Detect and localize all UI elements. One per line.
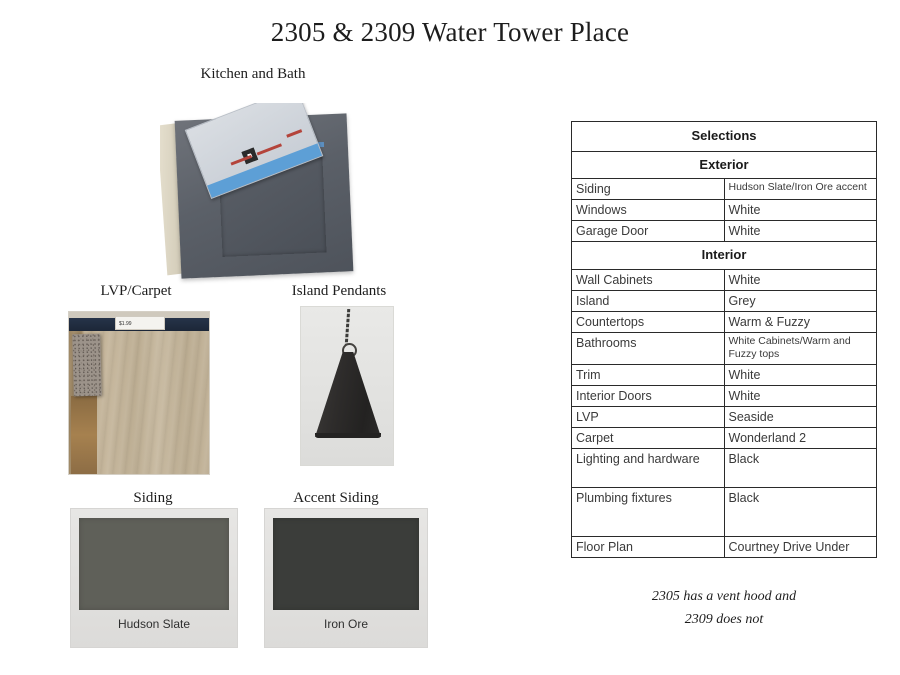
table-cell-label: Bathrooms	[572, 332, 725, 364]
page-title: 2305 & 2309 Water Tower Place	[0, 17, 900, 48]
swatch-card-hudson-slate: Hudson Slate	[70, 508, 238, 648]
table-cell-label: Plumbing fixtures	[572, 487, 725, 536]
table-cell-label: Wall Cabinets	[572, 269, 725, 290]
table-cell-value: White	[724, 364, 877, 385]
table-cell-label: Lighting and hardware	[572, 448, 725, 487]
table-section-header-cell: Exterior	[572, 151, 877, 179]
table-cell-label: Carpet	[572, 427, 725, 448]
table-cell-value: Wonderland 2	[724, 427, 877, 448]
table-cell-value: White	[724, 221, 877, 242]
table-cell-value: White	[724, 385, 877, 406]
carpet-sample	[72, 334, 102, 397]
table-cell-value: Courtney Drive Under	[724, 536, 877, 557]
table-cell-label: Windows	[572, 200, 725, 221]
table-row: BathroomsWhite Cabinets/Warm and Fuzzy t…	[572, 332, 877, 364]
table-cell-label: Interior Doors	[572, 385, 725, 406]
card-text-line	[286, 129, 302, 138]
card-text-line	[257, 143, 282, 155]
table-cell-label: Countertops	[572, 311, 725, 332]
table-row: SidingHudson Slate/Iron Ore accent	[572, 179, 877, 200]
table-cell-label: Garage Door	[572, 221, 725, 242]
caption-lvp-carpet: LVP/Carpet	[56, 283, 216, 300]
table-title-cell: Selections	[572, 122, 877, 152]
table-cell-value: Grey	[724, 290, 877, 311]
table-row: WindowsWhite	[572, 200, 877, 221]
caption-kitchen-and-bath: Kitchen and Bath	[133, 66, 373, 83]
swatch-color-iron-ore	[273, 518, 419, 610]
footnote-line-1: 2305 has a vent hood and	[571, 585, 877, 608]
selections-table-body: SelectionsExteriorSidingHudson Slate/Iro…	[572, 122, 877, 558]
table-cell-label: Siding	[572, 179, 725, 200]
table-section-header-cell: Interior	[572, 242, 877, 270]
pendant-shade-lip	[315, 433, 381, 438]
table-row: IslandGrey	[572, 290, 877, 311]
swatch-label-hudson-slate: Hudson Slate	[71, 617, 237, 631]
table-cell-value: Hudson Slate/Iron Ore accent	[724, 179, 877, 200]
table-cell-label: LVP	[572, 406, 725, 427]
swatch-label-iron-ore: Iron Ore	[265, 617, 427, 631]
footnote: 2305 has a vent hood and 2309 does not	[571, 585, 877, 631]
dark-wood-plank	[71, 396, 97, 474]
table-row: Floor PlanCourtney Drive Under	[572, 536, 877, 557]
caption-siding: Siding	[73, 490, 233, 507]
swatch-color-hudson-slate	[79, 518, 229, 610]
photo-island-pendant	[300, 306, 394, 466]
table-cell-value: White Cabinets/Warm and Fuzzy tops	[724, 332, 877, 364]
table-section-header-row: Exterior	[572, 151, 877, 179]
table-cell-label: Trim	[572, 364, 725, 385]
table-row: Lighting and hardwareBlack	[572, 448, 877, 487]
table-row: LVPSeaside	[572, 406, 877, 427]
table-cell-value: Black	[724, 487, 877, 536]
pendant-shade	[315, 352, 381, 437]
table-row: TrimWhite	[572, 364, 877, 385]
pendant-chain	[345, 309, 351, 345]
table-cell-label: Island	[572, 290, 725, 311]
table-row: Wall CabinetsWhite	[572, 269, 877, 290]
table-row: Interior DoorsWhite	[572, 385, 877, 406]
table-cell-value: Warm & Fuzzy	[724, 311, 877, 332]
table-row: Garage DoorWhite	[572, 221, 877, 242]
table-cell-value: Seaside	[724, 406, 877, 427]
table-row: CarpetWonderland 2	[572, 427, 877, 448]
table-cell-value: White	[724, 269, 877, 290]
caption-island-pendants: Island Pendants	[258, 283, 420, 300]
caption-accent-siding: Accent Siding	[255, 490, 417, 507]
table-title-row: Selections	[572, 122, 877, 152]
swatch-card-iron-ore: Iron Ore	[264, 508, 428, 648]
price-tag-label: $1.99	[115, 316, 165, 330]
table-section-header-row: Interior	[572, 242, 877, 270]
selections-table: SelectionsExteriorSidingHudson Slate/Iro…	[571, 121, 877, 558]
table-row: Plumbing fixturesBlack	[572, 487, 877, 536]
photo-kitchen-and-bath	[160, 103, 358, 288]
table-cell-label: Floor Plan	[572, 536, 725, 557]
footnote-line-2: 2309 does not	[571, 608, 877, 631]
document-page: 2305 & 2309 Water Tower Place Kitchen an…	[0, 0, 900, 675]
table-row: CountertopsWarm & Fuzzy	[572, 311, 877, 332]
table-cell-value: Black	[724, 448, 877, 487]
table-cell-value: White	[724, 200, 877, 221]
photo-lvp-carpet: $1.99	[68, 311, 210, 475]
